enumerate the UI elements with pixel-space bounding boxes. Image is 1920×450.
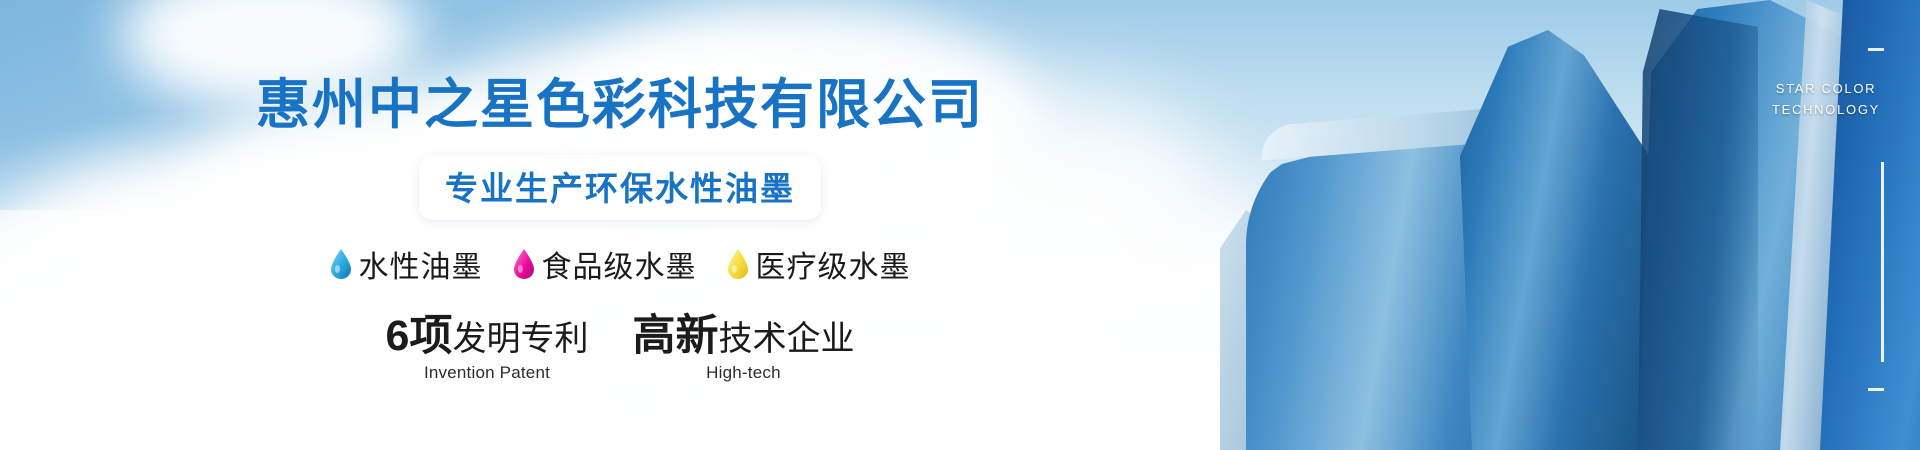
building-main-tower-shadow (1638, 0, 1758, 450)
feature-label: 食品级水墨 (542, 242, 697, 286)
promo-banner: Star Color STAR COLOR TECHNOLOGY 惠州中之星色彩… (0, 0, 1920, 450)
badge-lead: 6项 (386, 312, 453, 360)
building-curved-tower (1460, 30, 1660, 450)
badge-rest: 技术企业 (718, 320, 854, 358)
badge-cn-text: 高新技术企业 (632, 314, 854, 359)
skyscrapers-illustration: STAR COLOR TECHNOLOGY (1220, 0, 1920, 450)
badge-en-text: High-tech (632, 363, 854, 383)
label-tick-top (1868, 48, 1884, 51)
feature-label: 医疗级水墨 (756, 242, 911, 286)
company-title: 惠州中之星色彩科技有限公司 (256, 60, 984, 139)
badge-lead: 高新 (632, 312, 718, 360)
feature-list: 水性油墨 食品级水墨 (330, 242, 911, 286)
feature-item: 医疗级水墨 (727, 242, 911, 286)
water-drop-icon (330, 249, 352, 279)
water-drop-icon (727, 249, 749, 279)
badge-cn-text: 6项发明专利 (386, 314, 589, 359)
tagline-pill: 专业生产环保水性油墨 (419, 155, 821, 220)
badge-rest: 发明专利 (452, 320, 588, 358)
label-tick-bottom (1868, 388, 1884, 391)
badge-high-tech: 高新技术企业 High-tech (632, 314, 854, 383)
city-brand-line-1: STAR COLOR (1772, 78, 1880, 99)
label-tick-line (1881, 162, 1884, 362)
tagline-text: 专业生产环保水性油墨 (445, 162, 795, 210)
city-brand-label: STAR COLOR TECHNOLOGY (1772, 78, 1880, 121)
badge-en-text: Invention Patent (386, 363, 589, 383)
credential-badges: 6项发明专利 Invention Patent 高新技术企业 High-tech (386, 314, 855, 383)
water-drop-icon (513, 249, 535, 279)
feature-item: 水性油墨 (330, 242, 483, 286)
feature-label: 水性油墨 (359, 242, 483, 286)
feature-item: 食品级水墨 (513, 242, 697, 286)
city-brand-line-2: TECHNOLOGY (1772, 99, 1880, 120)
banner-content: 惠州中之星色彩科技有限公司 专业生产环保水性油墨 (0, 0, 1240, 450)
badge-invention-patent: 6项发明专利 Invention Patent (386, 314, 589, 383)
